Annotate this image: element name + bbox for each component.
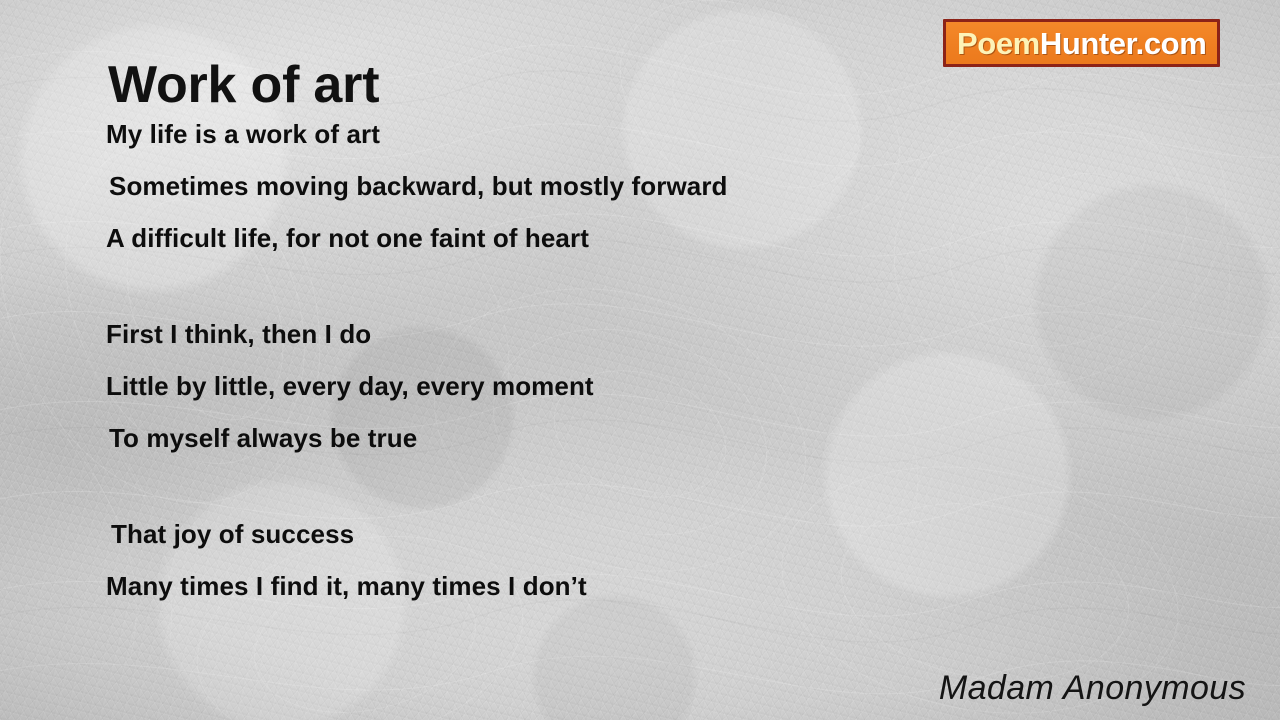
poem-body: My life is a work of art Sometimes movin… [106, 108, 926, 612]
poem-line: First I think, then I do [106, 308, 926, 360]
poem-card: Work of art My life is a work of art Som… [0, 0, 1280, 720]
poemhunter-logo[interactable]: PoemHunter.com [943, 19, 1220, 67]
poem-line: To myself always be true [106, 412, 926, 464]
page-title: Work of art [108, 57, 379, 114]
content-layer: Work of art My life is a work of art Som… [0, 0, 1280, 720]
poem-author: Madam Anonymous [939, 669, 1246, 708]
poem-line: That joy of success [106, 508, 926, 560]
poem-line: My life is a work of art [106, 108, 926, 160]
poem-line: Little by little, every day, every momen… [106, 360, 926, 412]
poem-stanza: First I think, then I do Little by littl… [106, 308, 926, 464]
poem-stanza: That joy of success Many times I find it… [106, 508, 926, 612]
poem-line: Many times I find it, many times I don’t [106, 560, 926, 612]
logo-text-hunter: Hunter.com [1040, 26, 1207, 61]
poem-line: Sometimes moving backward, but mostly fo… [106, 160, 926, 212]
poemhunter-logo-text: PoemHunter.com [957, 28, 1206, 59]
logo-text-poem: Poem [957, 26, 1040, 61]
poem-stanza: My life is a work of art Sometimes movin… [106, 108, 926, 264]
poem-line: A difficult life, for not one faint of h… [106, 212, 926, 264]
